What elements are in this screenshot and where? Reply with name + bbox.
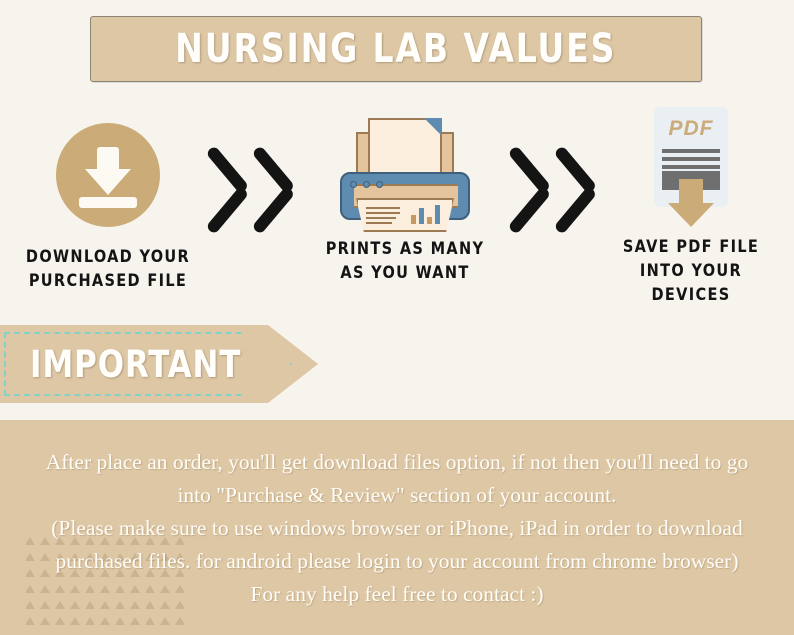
triangle-dot [25, 553, 35, 561]
step-save-pdf-label: SAVE PDF FILE INTO YOUR DEVICES [603, 235, 780, 307]
steps-row: DOWNLOAD YOUR PURCHASED FILE [0, 105, 794, 315]
triangle-dot [70, 617, 80, 625]
triangle-dot [130, 617, 140, 625]
step-save-pdf: PDF SAVE PDF FILE INTO YOUR DEVICES [598, 105, 784, 307]
page-title: NURSING LAB VALUES [175, 26, 616, 72]
step-print: PRINTS AS MANY AS YOU WANT [312, 105, 498, 285]
pdf-download-arrow-stem [679, 179, 703, 205]
triangle-dot [85, 617, 95, 625]
pdf-file-icon: PDF [636, 107, 746, 225]
paper-fold-corner [424, 118, 442, 136]
output-bar-chart [411, 204, 440, 224]
triangle-dot [100, 617, 110, 625]
triangle-dot [25, 601, 35, 609]
printer-top-paper [368, 118, 442, 180]
pdf-download-arrow-head [668, 203, 714, 227]
triangle-dot [115, 617, 125, 625]
chevron-right-icon [500, 143, 546, 237]
step-download: DOWNLOAD YOUR PURCHASED FILE [20, 105, 196, 293]
download-base-bar [79, 197, 137, 208]
chevron-right-icon [546, 143, 592, 237]
triangle-dot [175, 617, 185, 625]
double-chevron-right-icon [500, 143, 610, 243]
download-arrow-head [85, 169, 131, 195]
triangle-dot [55, 617, 65, 625]
triangle-dot [25, 585, 35, 593]
note-panel: After place an order, you'll get downloa… [0, 420, 794, 635]
triangle-dot [145, 617, 155, 625]
triangle-dot [40, 617, 50, 625]
note-body-text: After place an order, you'll get downloa… [42, 446, 752, 610]
triangle-dot [160, 617, 170, 625]
printer-icon [330, 110, 480, 225]
pdf-label: PDF [654, 117, 728, 141]
step-print-label: PRINTS AS MANY AS YOU WANT [317, 237, 494, 285]
chevron-right-icon [198, 143, 244, 237]
printer-output-sheet [356, 198, 454, 232]
page-title-box: NURSING LAB VALUES [90, 16, 702, 82]
important-banner-label: IMPORTANT [30, 325, 241, 403]
download-circle-icon [56, 123, 160, 227]
double-chevron-right-icon [198, 143, 308, 243]
important-banner: IMPORTANT [0, 325, 318, 403]
triangle-dot [25, 537, 35, 545]
triangle-dot [25, 569, 35, 577]
chevron-right-icon [244, 143, 290, 237]
printer-indicator-lights [350, 181, 383, 188]
triangle-dot [25, 617, 35, 625]
step-download-label: DOWNLOAD YOUR PURCHASED FILE [24, 245, 191, 293]
